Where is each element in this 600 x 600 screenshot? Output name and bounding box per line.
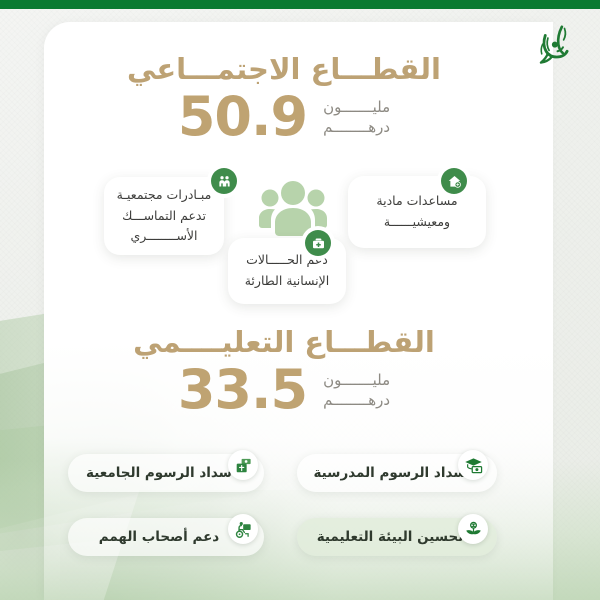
home-assistance-icon: [441, 168, 467, 194]
arabic-calligraphy-logo: [526, 18, 582, 74]
section-education: القطـــاع التعليــــمي 33.5 مليـــــــون…: [44, 325, 524, 417]
family-support-icon: [211, 168, 237, 194]
social-section-title: القطـــاع الاجتمـــاعي: [44, 52, 524, 86]
card-educational-environment-label: تحسين البيئة التعليمية: [317, 529, 464, 545]
card-school-fees-label: سداد الرسوم المدرسية: [313, 465, 466, 481]
education-unit-dirham: درهــــــــم: [323, 391, 390, 410]
first-aid-kit-icon: [305, 230, 331, 256]
education-section-title: القطـــاع التعليــــمي: [44, 325, 524, 359]
social-unit-million: مليـــــــون: [323, 98, 390, 117]
social-amount-row: 50.9 مليـــــــون درهــــــــم: [44, 90, 524, 144]
social-amount-unit: مليـــــــون درهــــــــم: [323, 98, 390, 137]
card-university-fees-label: سداد الرسوم الجامعية: [86, 465, 232, 481]
graduation-cap-money-icon: [458, 450, 488, 480]
education-amount-unit: مليـــــــون درهــــــــم: [323, 371, 390, 410]
card-financial-assistance-label: مساعدات مادية ومعيشيــــــة: [360, 191, 474, 232]
top-accent-bar: [0, 0, 600, 9]
card-emergency-humanitarian-label: دعم الحـــــالات الإنسانية الطارئة: [240, 250, 334, 291]
card-community-initiatives[interactable]: مبـادرات مجتمعيـة تدعم التماســـك الأســ…: [104, 177, 224, 255]
wheelchair-icon: [228, 514, 258, 544]
section-social: القطـــاع الاجتمـــاعي 50.9 مليـــــــون…: [44, 52, 524, 144]
education-amount-value: 33.5: [178, 363, 307, 417]
plant-growth-icon: [458, 514, 488, 544]
social-amount-value: 50.9: [178, 90, 307, 144]
infographic-canvas: القطـــاع الاجتمـــاعي 50.9 مليـــــــون…: [0, 0, 600, 600]
card-people-of-determination-label: دعم أصحاب الهمم: [99, 529, 219, 545]
education-amount-row: 33.5 مليـــــــون درهــــــــم: [44, 363, 524, 417]
card-community-initiatives-label: مبـادرات مجتمعيـة تدعم التماســـك الأســ…: [116, 185, 212, 247]
education-unit-million: مليـــــــون: [323, 371, 390, 390]
university-fees-icon: [228, 450, 258, 480]
social-unit-dirham: درهــــــــم: [323, 118, 390, 137]
